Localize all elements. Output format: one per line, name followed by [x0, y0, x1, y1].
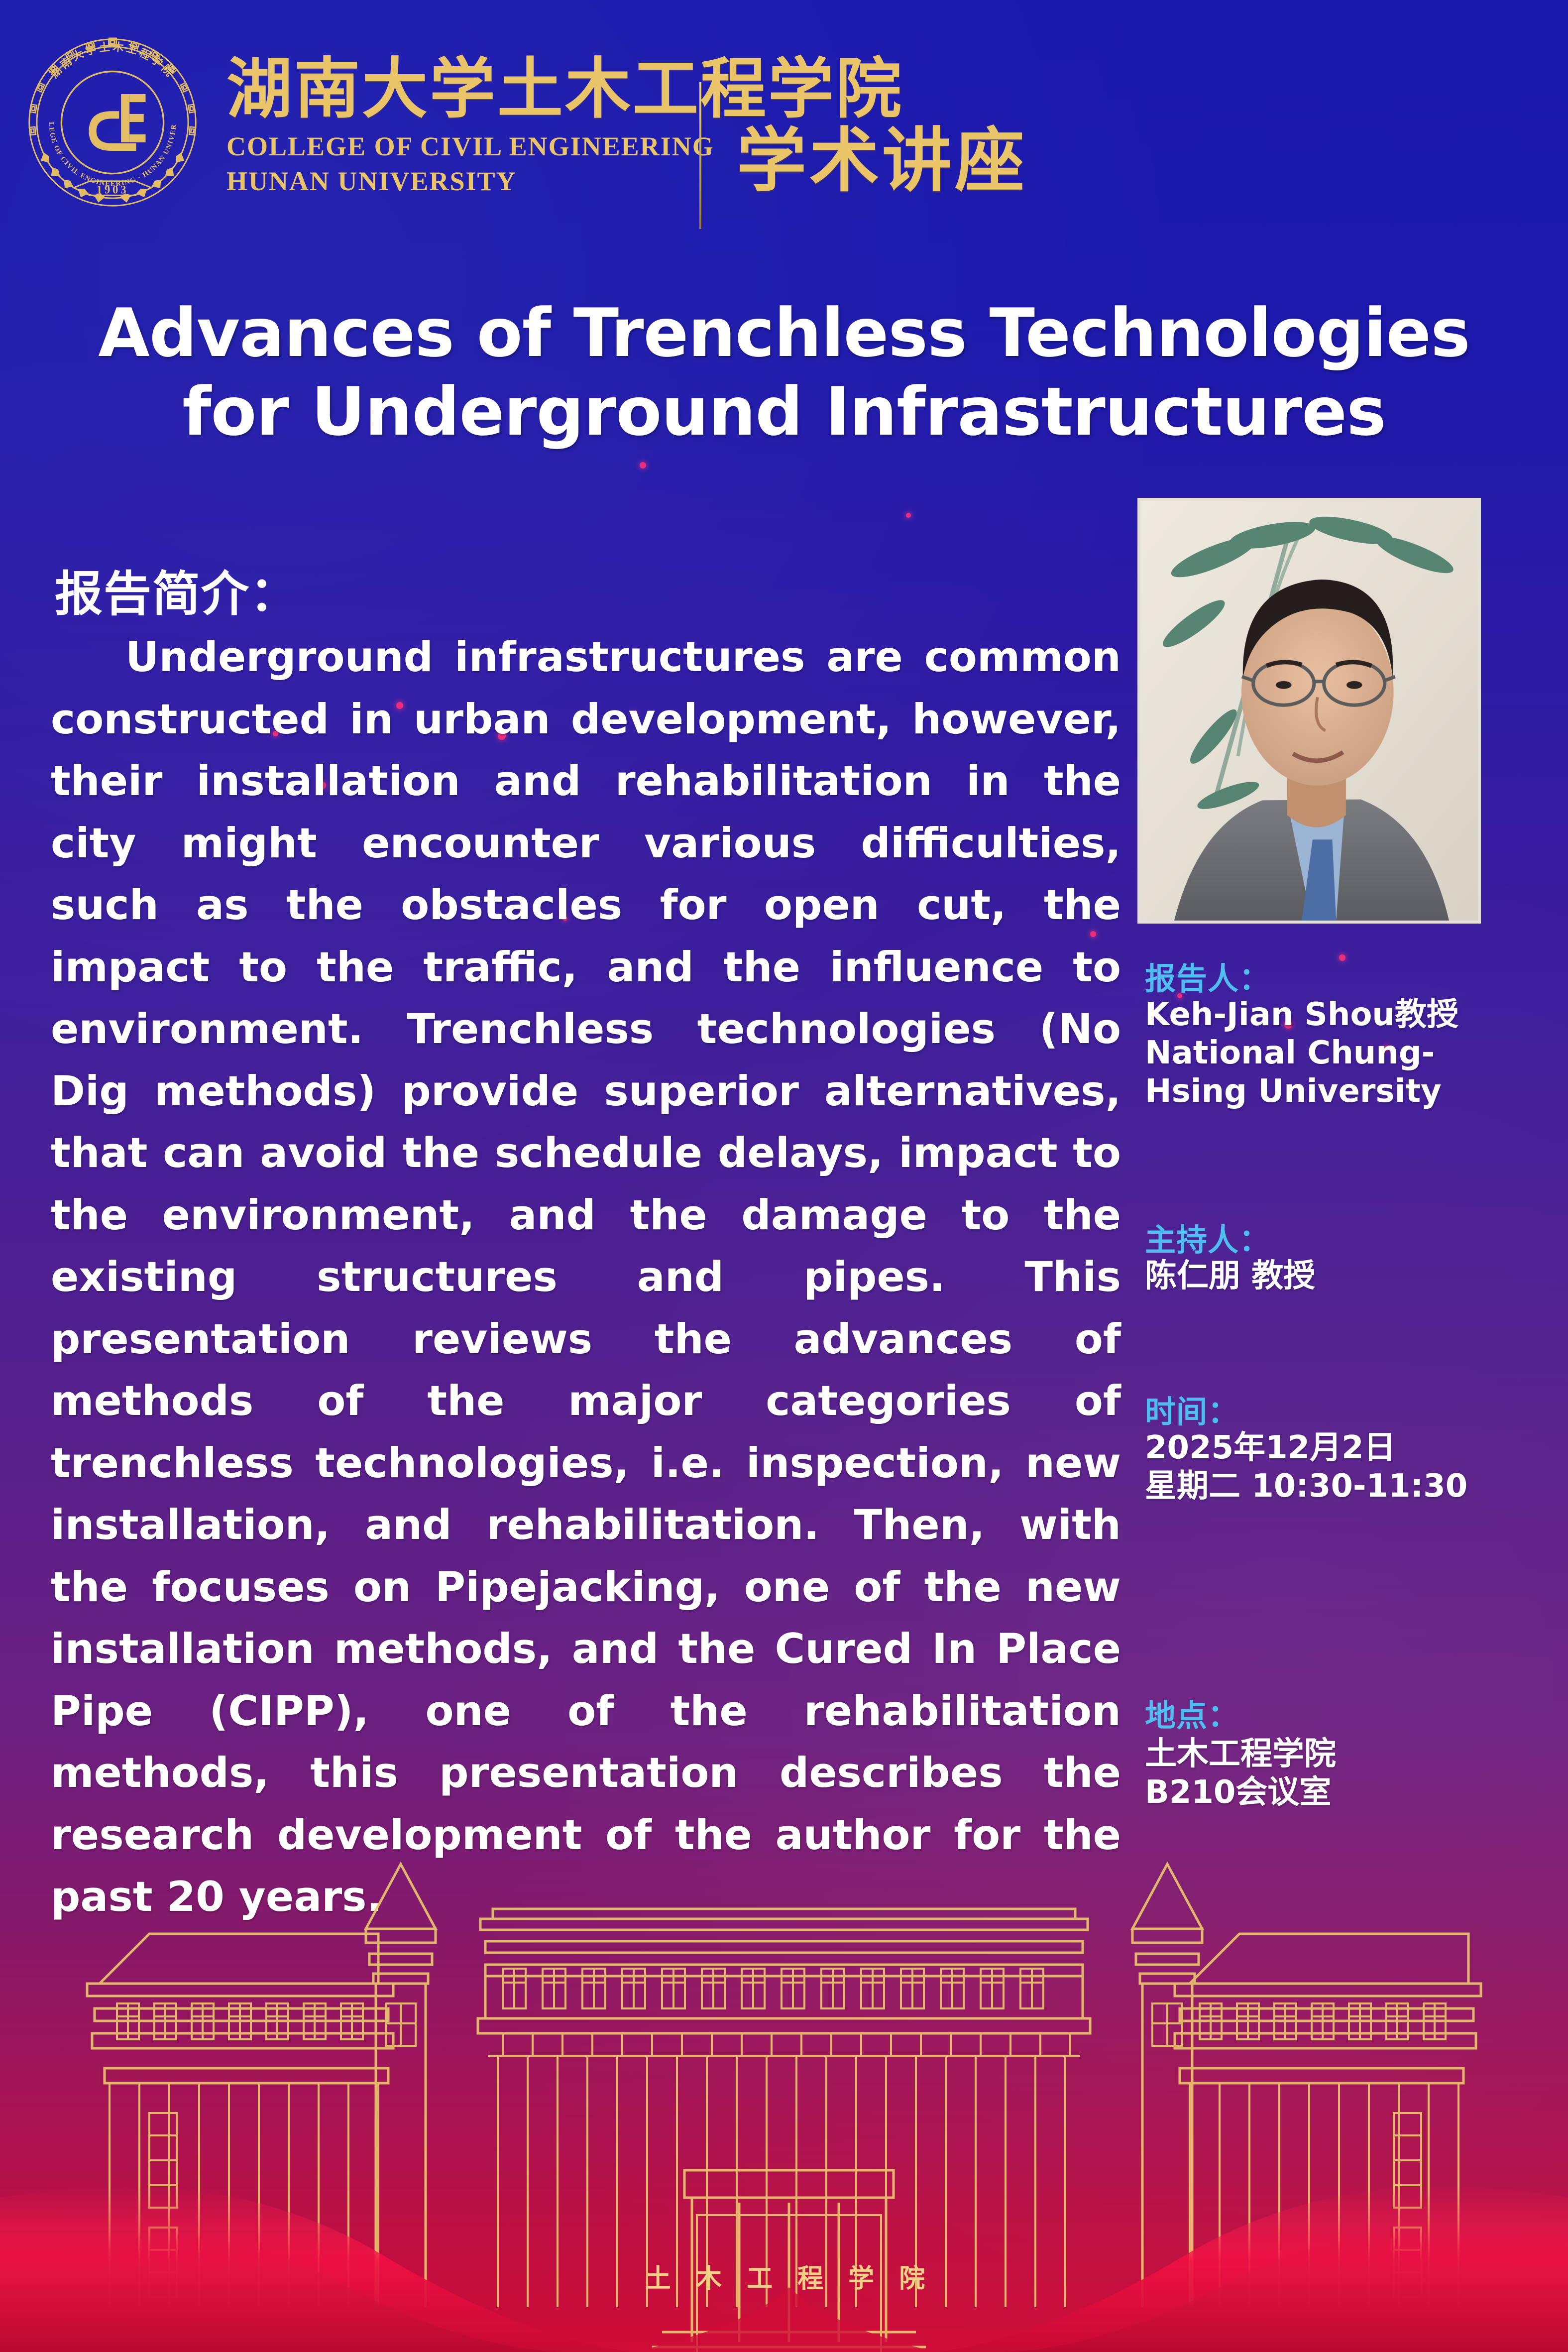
- time-value: 2025年12月2日 星期二 10:30-11:30: [1145, 1429, 1528, 1506]
- red-ribbon-decoration: [0, 2138, 1568, 2352]
- speaker-value: Keh-Jian Shou教授 National Chung-Hsing Uni…: [1145, 996, 1528, 1110]
- emblem-year: 1903: [97, 184, 129, 196]
- lecture-series-tag: 学术讲座: [737, 105, 1027, 205]
- host-label: 主持人：: [1145, 1215, 1270, 1260]
- place-label: 地点：: [1145, 1690, 1239, 1735]
- place-building: 土木工程学院: [1145, 1735, 1528, 1773]
- college-emblem-logo: 湖南大学土木工程学院 COLLEGE OF CIVIL ENGINEERING …: [18, 28, 207, 217]
- decorative-speck: [1339, 954, 1345, 961]
- decorative-speck: [640, 462, 646, 469]
- place-room: B210会议室: [1145, 1773, 1528, 1812]
- time-date: 2025年12月2日: [1145, 1429, 1528, 1467]
- place-value: 土木工程学院 B210会议室: [1145, 1735, 1528, 1812]
- host-value: 陈仁朋 教授: [1145, 1257, 1528, 1295]
- poster-header: 湖南大学土木工程学院 COLLEGE OF CIVIL ENGINEERING …: [0, 0, 1568, 249]
- time-weekday-range: 星期二 10:30-11:30: [1145, 1467, 1528, 1506]
- speaker-affiliation: National Chung-Hsing University: [1145, 1034, 1528, 1111]
- decorative-speck: [906, 513, 911, 518]
- abstract-body-text: Underground infrastructures are common c…: [51, 626, 1121, 1928]
- speaker-name: Keh-Jian Shou教授: [1145, 996, 1528, 1034]
- header-divider: [699, 82, 701, 229]
- page-title: Advances of Trenchless Technologies for …: [60, 294, 1508, 451]
- abstract-heading: 报告简介：: [55, 555, 299, 624]
- time-label: 时间：: [1145, 1387, 1239, 1431]
- lecture-poster: 湖南大学土木工程学院 COLLEGE OF CIVIL ENGINEERING …: [0, 0, 1568, 2352]
- speaker-label: 报告人：: [1145, 953, 1270, 998]
- speaker-photo: [1137, 498, 1481, 924]
